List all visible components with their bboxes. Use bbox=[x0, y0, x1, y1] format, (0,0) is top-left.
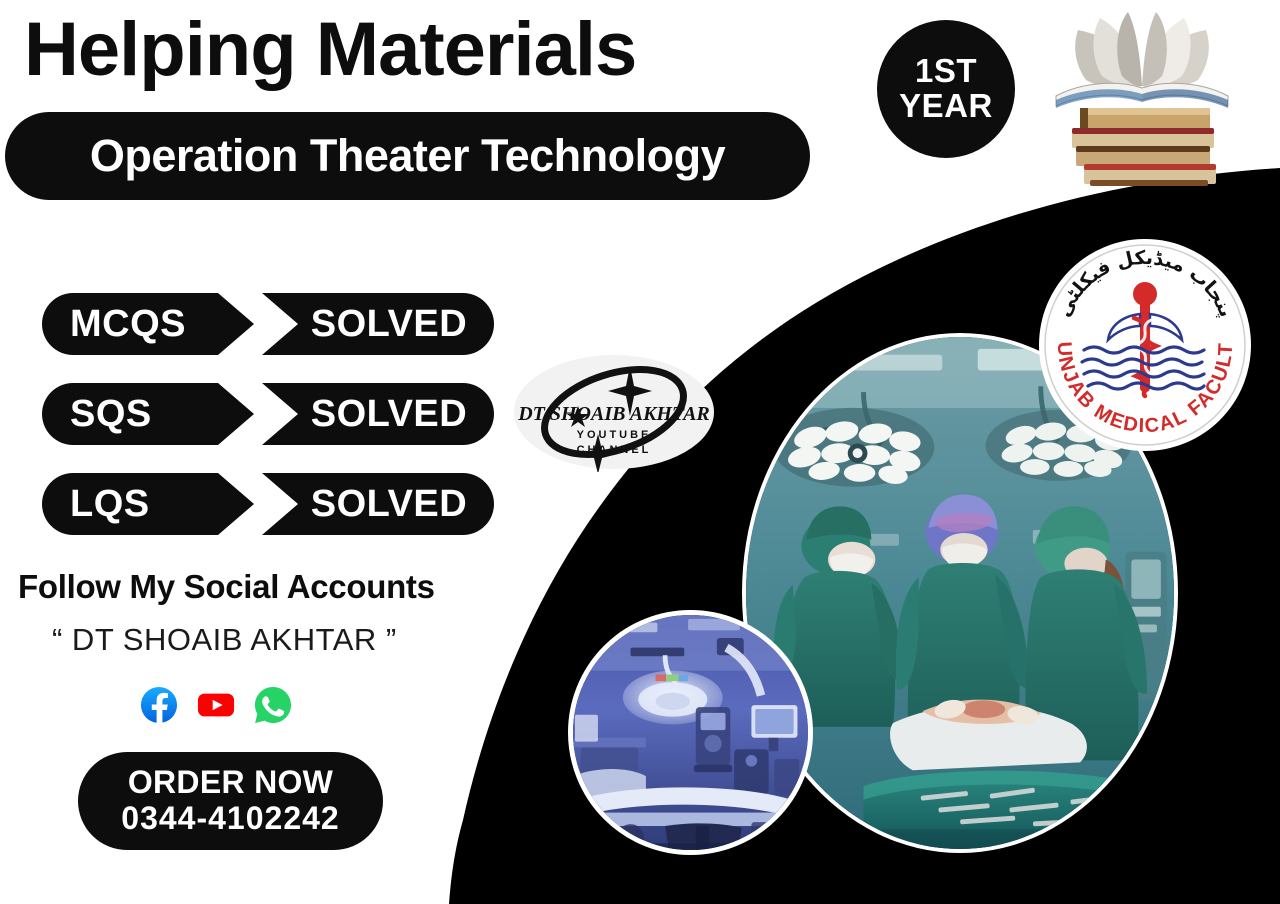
channel-logo-name: DT SHOAIB AKHTAR bbox=[517, 403, 710, 425]
dt-shoaib-akhtar-channel-logo: DT SHOAIB AKHTAR YOUTUBE CHANNEL bbox=[512, 352, 717, 472]
solved-pill-mcqs-type: MCQS bbox=[42, 293, 254, 355]
stack-of-books-icon bbox=[1042, 8, 1242, 188]
year-badge: 1ST YEAR bbox=[877, 20, 1015, 158]
page-title: Helping Materials bbox=[24, 12, 636, 88]
social-icon-row bbox=[140, 686, 292, 724]
solved-pill-mcqs-type-label: MCQS bbox=[70, 303, 186, 346]
order-phone-number: 0344-4102242 bbox=[121, 801, 339, 837]
youtube-icon[interactable] bbox=[197, 686, 235, 724]
order-now-button[interactable]: ORDER NOW 0344-4102242 bbox=[78, 752, 383, 850]
solved-pill-sqs-status-label: SOLVED bbox=[289, 393, 467, 436]
operating-room-photo bbox=[568, 610, 813, 855]
channel-logo-youtube: YOUTUBE bbox=[577, 429, 652, 441]
solved-pill-sqs-type-label: SQS bbox=[70, 393, 152, 436]
year-badge-line1: 1ST bbox=[915, 54, 977, 89]
solved-pill-lqs-status-label: SOLVED bbox=[289, 483, 467, 526]
solved-pill-mcqs-status: SOLVED bbox=[262, 293, 494, 355]
solved-pill-sqs-status: SOLVED bbox=[262, 383, 494, 445]
solved-pill-mcqs-status-label: SOLVED bbox=[289, 303, 467, 346]
poster-canvas: Helping Materials Operation Theater Tech… bbox=[0, 0, 1280, 904]
order-now-label: ORDER NOW bbox=[128, 765, 333, 801]
year-badge-line2: YEAR bbox=[899, 89, 993, 124]
whatsapp-icon[interactable] bbox=[254, 686, 292, 724]
solved-pill-sqs: SQS SOLVED bbox=[42, 383, 494, 445]
subtitle-pill: Operation Theater Technology bbox=[5, 112, 810, 200]
solved-pill-sqs-type: SQS bbox=[42, 383, 254, 445]
channel-logo-channel: CHANNEL bbox=[577, 444, 652, 456]
follow-heading: Follow My Social Accounts bbox=[18, 568, 435, 606]
solved-pill-lqs-status: SOLVED bbox=[262, 473, 494, 535]
solved-pill-lqs-type-label: LQS bbox=[70, 483, 150, 526]
solved-pill-lqs: LQS SOLVED bbox=[42, 473, 494, 535]
solved-pill-list: MCQS SOLVED SQS SOLVED LQS SOLVED bbox=[42, 293, 494, 563]
punjab-medical-faculty-seal: پنجاب میڈیکل فیکلٹی PUNJAB MEDICAL FACUL… bbox=[1036, 236, 1254, 454]
facebook-icon[interactable] bbox=[140, 686, 178, 724]
subtitle-text: Operation Theater Technology bbox=[90, 130, 725, 182]
solved-pill-mcqs: MCQS SOLVED bbox=[42, 293, 494, 355]
channel-handle: “ DT SHOAIB AKHTAR ” bbox=[52, 622, 397, 658]
solved-pill-lqs-type: LQS bbox=[42, 473, 254, 535]
